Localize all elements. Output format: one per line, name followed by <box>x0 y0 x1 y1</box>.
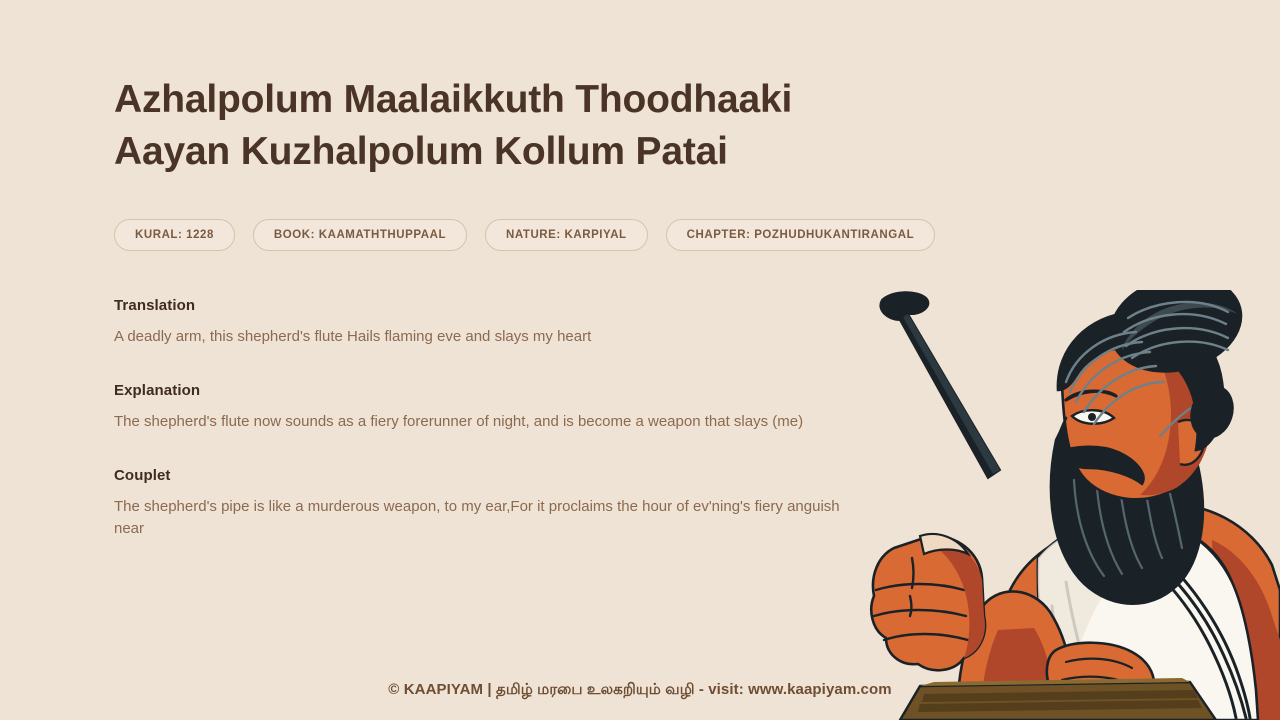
nature-badge: NATURE: KARPIYAL <box>485 219 648 251</box>
kural-badge: KURAL: 1228 <box>114 219 235 251</box>
hair-highlights <box>1066 302 1228 436</box>
face-shadow <box>1140 330 1212 495</box>
writing-hand <box>871 536 985 670</box>
book-badge: BOOK: KAAMATHTHUPPAAL <box>253 219 467 251</box>
hair-knot <box>1185 381 1239 443</box>
moustache <box>1058 447 1144 484</box>
translation-section: Translation A deadly arm, this shepherd'… <box>114 297 944 348</box>
badge-list: KURAL: 1228 BOOK: KAAMATHTHUPPAAL NATURE… <box>114 219 944 251</box>
writing-forearm <box>958 591 1073 720</box>
couplet-text: The shepherd's pipe is like a murderous … <box>114 496 854 540</box>
explanation-label: Explanation <box>114 382 944 399</box>
hair-front <box>1058 311 1223 450</box>
pupil <box>1088 413 1096 421</box>
nose <box>1056 418 1076 461</box>
page-title: Azhalpolum Maalaikkuth Thoodhaaki Aayan … <box>114 74 904 178</box>
footer-credit-text: © KAAPIYAM | தமிழ் மரபை உலகறியும் வழி - … <box>388 681 891 700</box>
card-content: Azhalpolum Maalaikkuth Thoodhaaki Aayan … <box>114 0 944 540</box>
kural-card-page: Azhalpolum Maalaikkuth Thoodhaaki Aayan … <box>0 0 1280 720</box>
beard <box>1051 402 1203 603</box>
resting-hand <box>1047 643 1154 714</box>
couplet-section: Couplet The shepherd's pipe is like a mu… <box>114 467 944 540</box>
explanation-section: Explanation The shepherd's flute now sou… <box>114 382 944 433</box>
hair-bun-sheen <box>1122 302 1238 350</box>
finger-lines <box>874 558 968 640</box>
eyebrow <box>1066 391 1116 400</box>
eye <box>1072 410 1114 424</box>
beard-strands <box>1074 468 1182 576</box>
face <box>1062 321 1211 499</box>
chapter-badge: CHAPTER: POZHUDHUKANTIRANGAL <box>666 219 936 251</box>
footer: © KAAPIYAM | தமிழ் மரபை உலகறியும் வழி - … <box>0 681 1280 700</box>
translation-text: A deadly arm, this shepherd's flute Hail… <box>114 326 854 348</box>
ear <box>1178 420 1204 465</box>
explanation-text: The shepherd's flute now sounds as a fie… <box>114 411 854 433</box>
hand-shadow <box>920 539 985 658</box>
translation-label: Translation <box>114 297 944 314</box>
hair-bun <box>1101 290 1251 385</box>
couplet-label: Couplet <box>114 467 944 484</box>
writing-forearm-shadow <box>982 628 1053 720</box>
